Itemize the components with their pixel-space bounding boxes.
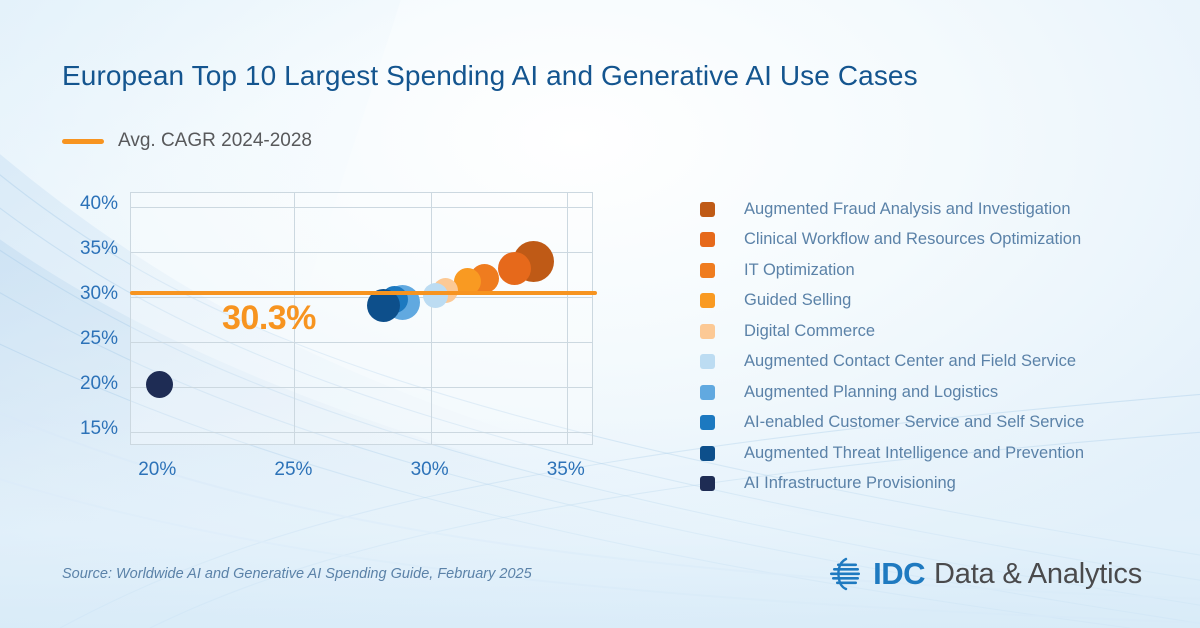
x-axis-tick-label: 25% xyxy=(253,459,333,481)
legend-item[interactable]: Guided Selling xyxy=(700,286,1170,317)
legend-item[interactable]: Augmented Fraud Analysis and Investigati… xyxy=(700,194,1170,225)
legend-item[interactable]: Augmented Contact Center and Field Servi… xyxy=(700,347,1170,378)
legend-item[interactable]: Augmented Threat Intelligence and Preven… xyxy=(700,438,1170,469)
y-axis-tick-label: 40% xyxy=(54,193,118,215)
series-legend: Augmented Fraud Analysis and Investigati… xyxy=(700,194,1170,499)
legend-item-label: Augmented Threat Intelligence and Preven… xyxy=(744,444,1084,463)
legend-item-label: AI Infrastructure Provisioning xyxy=(744,474,956,493)
legend-color-swatch xyxy=(700,476,715,491)
x-axis-tick-label: 35% xyxy=(526,459,606,481)
legend-color-swatch xyxy=(700,263,715,278)
legend-color-swatch xyxy=(700,354,715,369)
gridline-horizontal xyxy=(131,207,592,208)
legend-item-label: Augmented Contact Center and Field Servi… xyxy=(744,352,1076,371)
bubble-point[interactable] xyxy=(498,252,531,285)
gridline-horizontal xyxy=(131,387,592,388)
idc-tagline: Data & Analytics xyxy=(934,558,1142,591)
legend-item-label: Augmented Fraud Analysis and Investigati… xyxy=(744,200,1071,219)
y-axis-tick-label: 20% xyxy=(54,373,118,395)
idc-brand-lockup: IDC Data & Analytics xyxy=(828,556,1142,592)
legend-item-label: Augmented Planning and Logistics xyxy=(744,383,998,402)
legend-item-label: IT Optimization xyxy=(744,261,855,280)
gridline-vertical xyxy=(431,193,432,444)
y-axis-tick-label: 30% xyxy=(54,283,118,305)
legend-item[interactable]: IT Optimization xyxy=(700,255,1170,286)
plot-area xyxy=(130,192,593,445)
gridline-horizontal xyxy=(131,297,592,298)
legend-item[interactable]: AI-enabled Customer Service and Self Ser… xyxy=(700,408,1170,439)
infographic-canvas: European Top 10 Largest Spending AI and … xyxy=(0,0,1200,628)
legend-color-swatch xyxy=(700,324,715,339)
legend-color-swatch xyxy=(700,293,715,308)
average-value-label: 30.3% xyxy=(222,299,316,338)
legend-item[interactable]: Digital Commerce xyxy=(700,316,1170,347)
gridline-vertical xyxy=(567,193,568,444)
legend-color-swatch xyxy=(700,232,715,247)
legend-color-swatch xyxy=(700,415,715,430)
x-axis-tick-label: 20% xyxy=(117,459,197,481)
y-axis-tick-label: 25% xyxy=(54,328,118,350)
legend-item[interactable]: Clinical Workflow and Resources Optimiza… xyxy=(700,225,1170,256)
source-note: Source: Worldwide AI and Generative AI S… xyxy=(62,564,532,585)
legend-item-label: Guided Selling xyxy=(744,291,851,310)
idc-wordmark: IDC xyxy=(873,556,925,592)
y-axis-tick-label: 15% xyxy=(54,418,118,440)
average-reference-line xyxy=(130,291,597,295)
legend-item-label: Clinical Workflow and Resources Optimiza… xyxy=(744,230,1081,249)
legend-color-swatch xyxy=(700,385,715,400)
legend-item-label: Digital Commerce xyxy=(744,322,875,341)
y-axis-tick-label: 35% xyxy=(54,238,118,260)
gridline-horizontal xyxy=(131,432,592,433)
legend-color-swatch xyxy=(700,202,715,217)
idc-globe-icon xyxy=(828,557,864,591)
x-axis-tick-label: 30% xyxy=(390,459,470,481)
gridline-horizontal xyxy=(131,342,592,343)
legend-item[interactable]: Augmented Planning and Logistics xyxy=(700,377,1170,408)
legend-item[interactable]: AI Infrastructure Provisioning xyxy=(700,469,1170,500)
legend-color-swatch xyxy=(700,446,715,461)
legend-item-label: AI-enabled Customer Service and Self Ser… xyxy=(744,413,1084,432)
